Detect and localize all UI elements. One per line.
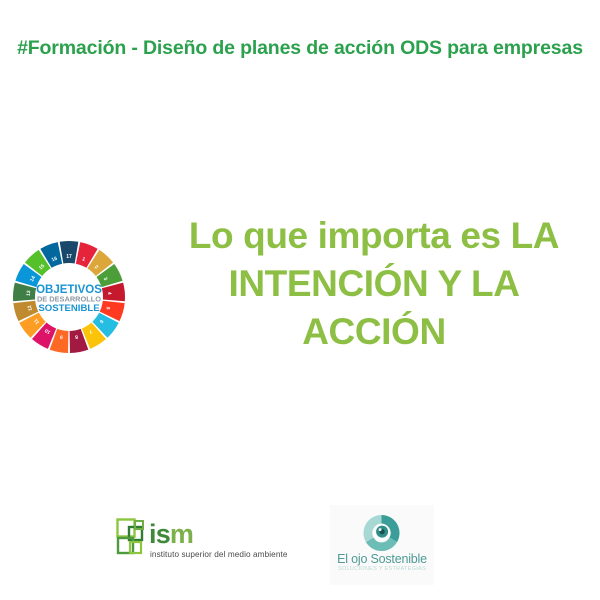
footer-logos: ism instituto superior del medio ambient… bbox=[0, 505, 600, 585]
ism-letter-m: m bbox=[170, 519, 193, 549]
quote-line-2: INTENCIÓN Y LA bbox=[148, 260, 600, 308]
ism-logo: ism instituto superior del medio ambient… bbox=[116, 518, 288, 564]
ism-wordmark: ism bbox=[149, 521, 193, 548]
quote-line-1: Lo que importa es LA bbox=[148, 212, 600, 260]
sdg-segment-number: 13 bbox=[26, 290, 33, 296]
quote-text: Lo que importa es LA INTENCIÓN Y LA ACCI… bbox=[148, 212, 600, 356]
sdg-segment bbox=[60, 241, 79, 263]
eye-aperture-icon bbox=[358, 514, 405, 554]
ism-letter-i: i bbox=[149, 519, 156, 549]
quote-line-3: ACCIÓN bbox=[148, 308, 600, 356]
ojo-sostenible-logo: El ojo Sostenible SOLUCIONES Y ESTRATEGI… bbox=[330, 505, 434, 585]
ojo-wordmark: El ojo Sostenible bbox=[330, 553, 434, 567]
slide-canvas: #Formación - Diseño de planes de acción … bbox=[0, 0, 600, 600]
sdg-center-text: SOSTENIBLE bbox=[38, 303, 100, 314]
page-title: #Formación - Diseño de planes de acción … bbox=[14, 34, 586, 64]
ism-tagline: instituto superior del medio ambiente bbox=[150, 550, 288, 559]
ism-letter-s: s bbox=[156, 519, 170, 549]
ojo-tagline: SOLUCIONES Y ESTRATEGIAS bbox=[330, 566, 434, 572]
sdg-wheel-icon: 1234567891011121314151617 OBJETIVOSDE DE… bbox=[12, 231, 126, 362]
sdg-segment-number: 17 bbox=[66, 254, 72, 260]
